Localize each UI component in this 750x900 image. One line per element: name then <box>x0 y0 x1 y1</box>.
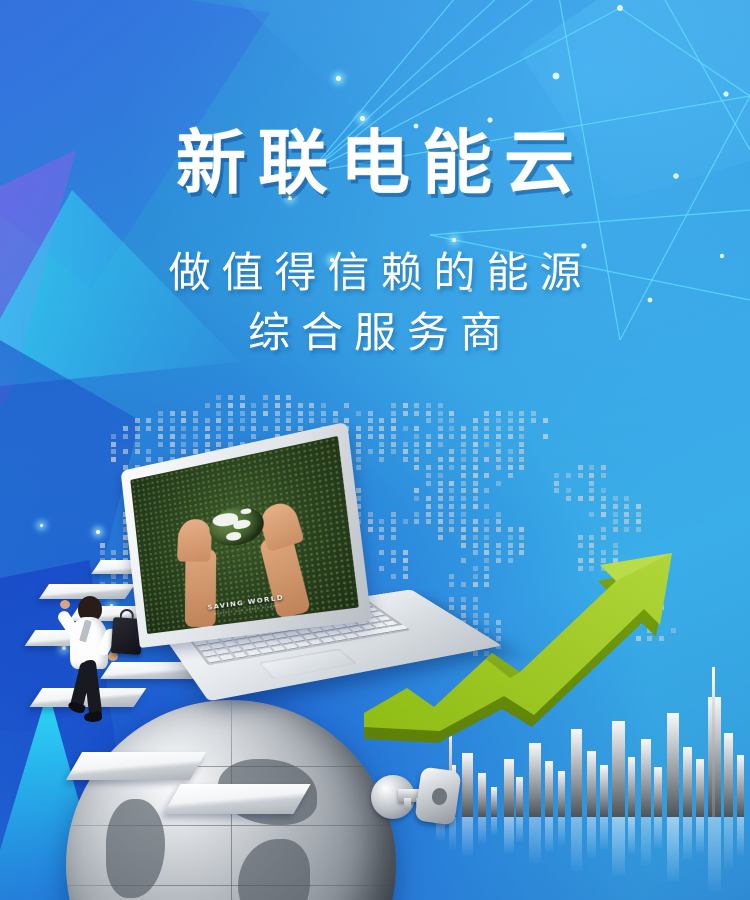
title-block: 新联电能云 <box>0 128 750 198</box>
promotional-poster: 新联电能云 做值得信赖的能源 综合服务商 <box>0 0 750 900</box>
page-title: 新联电能云 <box>164 128 586 198</box>
subtitle-line-1: 做值得信赖的能源 <box>0 243 750 303</box>
subtitle-block: 做值得信赖的能源 综合服务商 <box>0 243 750 362</box>
green-rising-arrow-icon <box>350 515 690 745</box>
laptop-screen: SAVING WORLD PROTECT OUR GREEN PLANET <box>130 436 359 634</box>
subtitle-line-2: 综合服务商 <box>0 303 750 363</box>
